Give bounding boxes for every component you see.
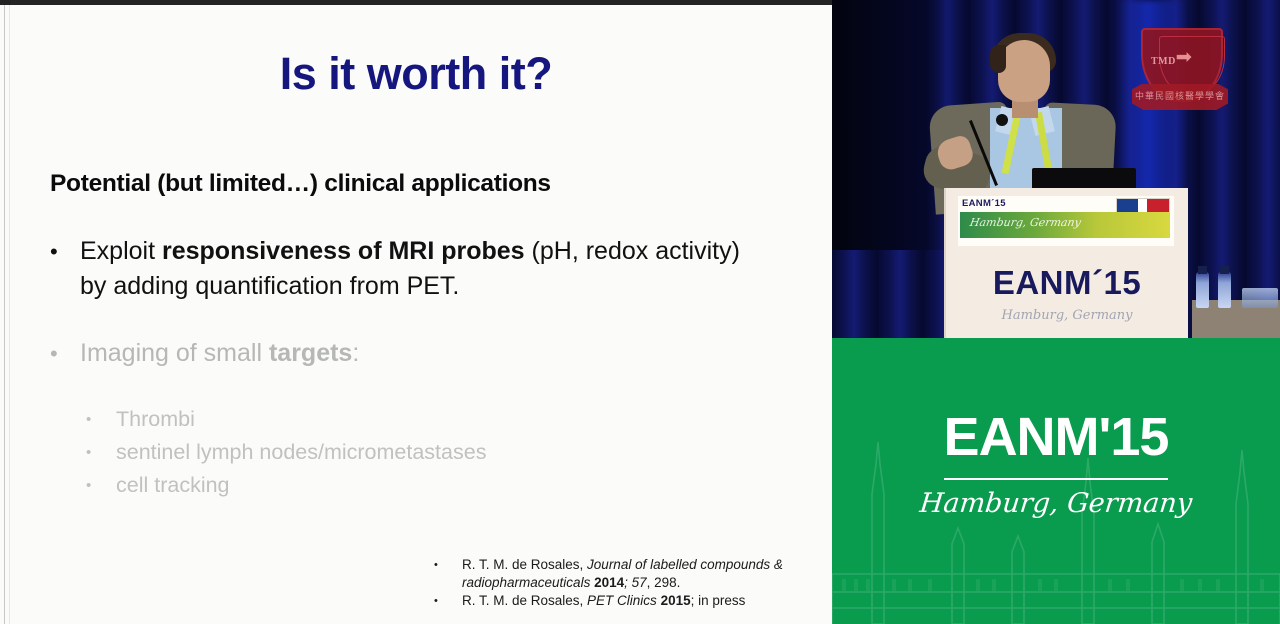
podium-front-title: EANM´15 (946, 264, 1188, 302)
conference-shield-logo: TMD ➟ 中華民國核醫學學會 (1132, 28, 1228, 126)
reference-pages: ; in press (691, 593, 746, 608)
sub-bullet-item: • cell tracking (86, 469, 726, 502)
reference-year: 2015 (661, 593, 691, 608)
sub-bullet-marker: • (86, 403, 116, 436)
reference-pages: , 298. (647, 575, 681, 590)
podium-banner-label: EANM´15 (962, 198, 1006, 209)
logo-title: EANM'15 (832, 406, 1280, 468)
lectern-podium: EANM´15 Hamburg, Germany EANM´15 Hamburg… (944, 188, 1188, 338)
sub-bullet-text: cell tracking (116, 469, 230, 502)
reference-marker: • (434, 556, 462, 574)
shield-ribbon-text: 中華民國核醫學學會 (1132, 89, 1228, 102)
sub-bullet-item: • Thrombi (86, 403, 726, 436)
drinking-glasses (1242, 288, 1278, 308)
bullet-text-pre: Imaging of small (80, 339, 269, 367)
bullet-item: • Exploit responsiveness of MRI probes (… (44, 234, 744, 304)
slide-pane: Is it worth it? Potential (but limited…)… (0, 0, 832, 624)
sub-bullet-text: Thrombi (116, 403, 195, 436)
shield-emblem-icon: ➟ (1176, 46, 1198, 70)
bullet-marker: • (44, 336, 80, 371)
conference-logo-panel: EANM'15 Hamburg, Germany (832, 338, 1280, 624)
podium-banner: EANM´15 Hamburg, Germany (958, 196, 1174, 246)
reference-item: • R. T. M. de Rosales, PET Clinics 2015;… (434, 592, 824, 610)
bottle-cap (1198, 266, 1207, 274)
water-bottle (1218, 272, 1231, 308)
slide-title: Is it worth it? (0, 48, 832, 100)
reference-marker: • (434, 592, 462, 610)
slide-heading: Potential (but limited…) clinical applic… (50, 170, 551, 198)
bottle-cap (1220, 266, 1229, 274)
bullet-text: Imaging of small targets: (80, 336, 744, 371)
podium-banner-script: Hamburg, Germany (969, 216, 1082, 229)
slide-top-bar (0, 0, 832, 5)
bullet-text-bold: targets (269, 339, 352, 367)
sub-bullet-marker: • (86, 469, 116, 502)
bullet-marker: • (44, 234, 80, 269)
reference-year: 2014 (594, 575, 624, 590)
reference-journal: PET Clinics (587, 593, 661, 608)
reference-text: R. T. M. de Rosales, Journal of labelled… (462, 556, 824, 591)
reference-volume: ; 57 (624, 575, 647, 590)
reference-item: • R. T. M. de Rosales, Journal of labell… (434, 556, 824, 591)
sub-bullet-item: • sentinel lymph nodes/micrometastases (86, 436, 726, 469)
bullet-text-pre: Exploit (80, 237, 162, 265)
logo-divider (944, 478, 1168, 480)
right-pane: TMD ➟ 中華民國核醫學學會 (832, 0, 1280, 624)
bullet-text-bold: responsiveness of MRI probes (162, 237, 525, 265)
podium-front-subtitle: Hamburg, Germany (946, 308, 1188, 323)
bullet-text: Exploit responsiveness of MRI probes (pH… (80, 234, 744, 304)
water-bottle (1196, 272, 1209, 308)
bullet-item-dimmed: • Imaging of small targets: (44, 336, 744, 371)
sub-bullet-marker: • (86, 436, 116, 469)
reference-list: • R. T. M. de Rosales, Journal of labell… (434, 556, 824, 611)
logo-subtitle: Hamburg, Germany (832, 488, 1280, 519)
presentation-viewer: Is it worth it? Potential (but limited…)… (0, 0, 1280, 624)
bullet-text-post: : (352, 339, 359, 367)
speaker-hair-side (990, 45, 1006, 73)
reference-author: R. T. M. de Rosales, (462, 557, 587, 572)
shield-letters: TMD (1151, 56, 1176, 67)
reference-author: R. T. M. de Rosales, (462, 593, 587, 608)
microphone-icon (996, 114, 1008, 126)
speaker-video[interactable]: TMD ➟ 中華民國核醫學學會 (832, 0, 1280, 338)
sub-bullet-text: sentinel lymph nodes/micrometastases (116, 436, 486, 469)
reference-text: R. T. M. de Rosales, PET Clinics 2015; i… (462, 592, 824, 610)
sponsor-flag-icon (1116, 198, 1170, 213)
